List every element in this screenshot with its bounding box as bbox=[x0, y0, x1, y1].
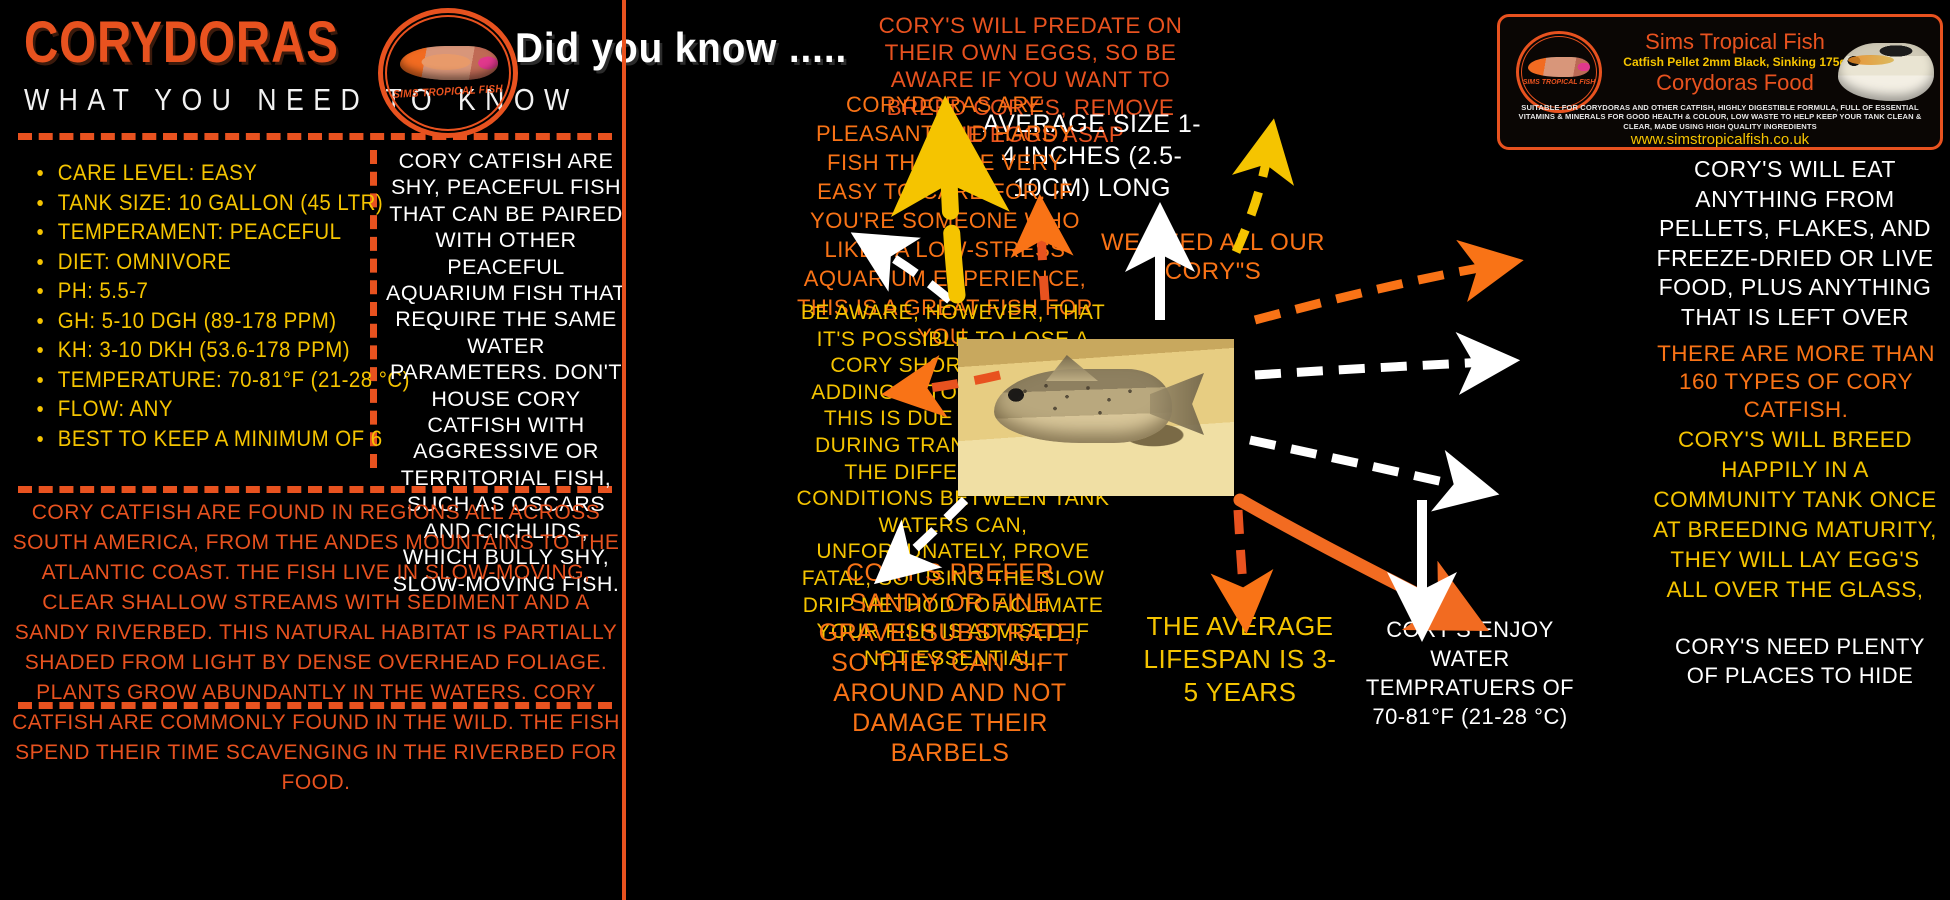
corydoras-photo bbox=[958, 339, 1234, 496]
arrow-to-lifespan bbox=[1238, 510, 1244, 600]
panel-separator bbox=[622, 0, 626, 900]
photo-fish-spots bbox=[1010, 375, 1160, 429]
product-variant: Catfish Pellet 2mm Black, Sinking 175g bbox=[1600, 55, 1870, 69]
corydoras-photo-icon bbox=[1838, 43, 1934, 101]
photo-fish-dorsal-fin bbox=[1046, 355, 1098, 381]
list-item: KH: 3-10 DKH (53.6-178 PPM) bbox=[28, 335, 335, 365]
arrow-to-species-count bbox=[1255, 362, 1486, 375]
product-logo-fish-icon bbox=[1528, 57, 1590, 77]
list-item: FLOW: ANY bbox=[28, 394, 335, 424]
infographic-canvas: CORYDORAS WHAT YOU NEED TO KNOW SIMS TRO… bbox=[0, 0, 1950, 900]
note-lifespan: THE AVERAGE LIFESPAN IS 3-5 YEARS bbox=[1140, 610, 1340, 709]
habitat-note: CORY CATFISH ARE FOUND IN REGIONS ALL AC… bbox=[6, 498, 626, 798]
brand-logo-badge: SIMS TROPICAL FISH bbox=[378, 8, 518, 138]
page-title: CORYDORAS bbox=[24, 14, 339, 72]
product-website-url[interactable]: www.simstropicalfish.co.uk bbox=[1514, 131, 1926, 148]
product-logo-badge: SIMS TROPICAL FISH bbox=[1516, 31, 1602, 113]
note-diet: CORY'S WILL EAT ANYTHING FROM PELLETS, F… bbox=[1650, 155, 1940, 332]
list-item: CARE LEVEL: EASY bbox=[28, 158, 335, 188]
note-temperature: CORY'S ENJOY WATER TEMPRATUERS OF 70-81°… bbox=[1355, 615, 1585, 731]
did-you-know-heading: Did you know ..... bbox=[515, 24, 847, 72]
product-fineprint: SUITABLE FOR CORYDORAS AND OTHER CATFISH… bbox=[1514, 103, 1926, 131]
product-logo-caption: SIMS TROPICAL FISH bbox=[1520, 79, 1598, 86]
product-name: Corydoras Food bbox=[1610, 70, 1860, 96]
arrow-to-breeding-note bbox=[1250, 440, 1466, 487]
list-item: TANK SIZE: 10 GALLON (45 LTR) bbox=[28, 188, 335, 218]
arowana-fish-icon bbox=[400, 46, 498, 80]
note-breeding: CORY'S WILL BREED HAPPILY IN A COMMUNITY… bbox=[1650, 425, 1940, 605]
list-item: PH: 5.5-7 bbox=[28, 276, 335, 306]
divider-top bbox=[18, 133, 612, 140]
list-item: GH: 5-10 DGH (89-178 PPM) bbox=[28, 306, 335, 336]
note-we-feed: WE FEED ALL OUR CORY"S bbox=[1078, 228, 1348, 286]
product-brand: Sims Tropical Fish bbox=[1610, 29, 1860, 55]
list-item: TEMPERATURE: 70-81°F (21-28 °C) bbox=[28, 365, 335, 395]
note-species-count: THERE ARE MORE THAN 160 TYPES OF CORY CA… bbox=[1646, 340, 1946, 424]
note-hiding: CORY'S NEED PLENTY OF PLACES TO HIDE bbox=[1660, 632, 1940, 690]
list-item: BEST TO KEEP A MINIMUM OF 6 bbox=[28, 424, 335, 454]
arrow-to-hiding-note bbox=[1240, 500, 1452, 612]
note-substrate: CORY'S PREFER SANDY OR FINE GRAVELSUBSTR… bbox=[800, 558, 1100, 768]
product-label-card: SIMS TROPICAL FISH Sims Tropical Fish Ca… bbox=[1497, 14, 1943, 150]
care-facts-list: CARE LEVEL: EASY TANK SIZE: 10 GALLON (4… bbox=[28, 158, 358, 453]
list-item: DIET: OMNIVORE bbox=[28, 247, 335, 277]
list-item: TEMPERAMENT: PEACEFUL bbox=[28, 217, 335, 247]
